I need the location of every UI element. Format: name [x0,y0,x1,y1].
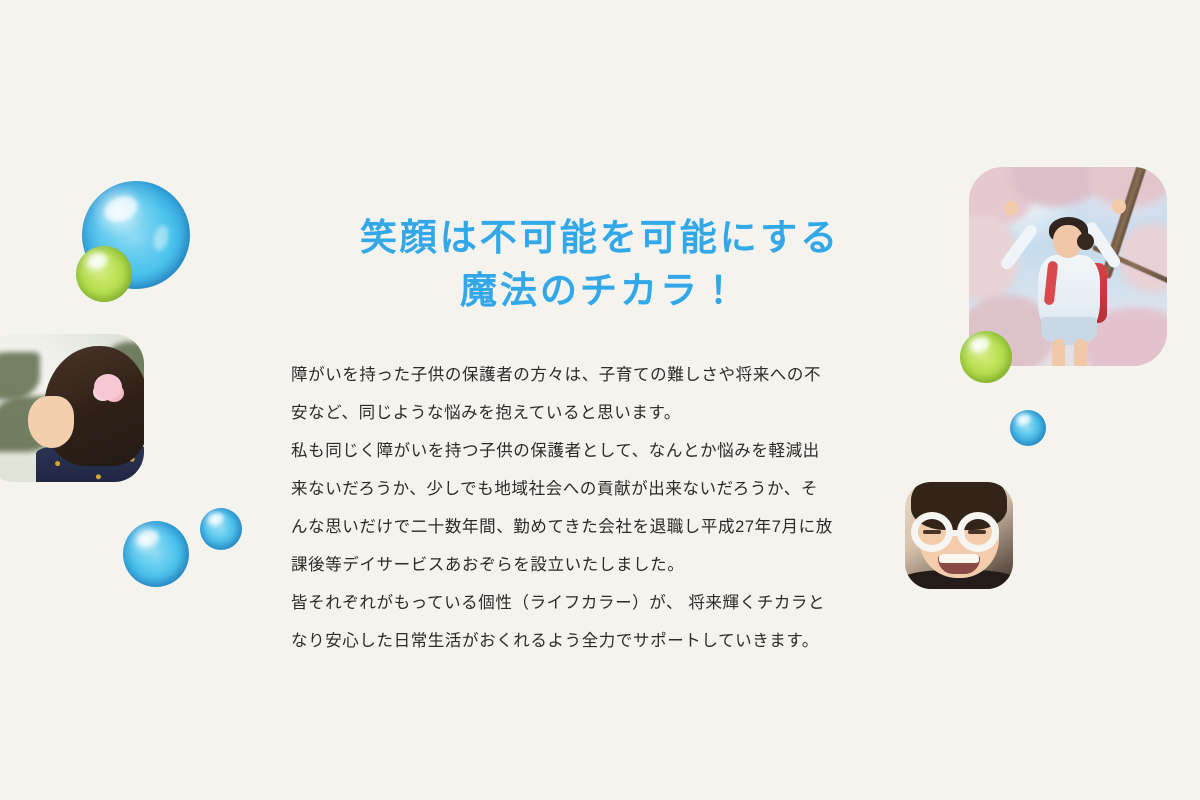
bubble-highlight [86,251,110,271]
child-leg [1052,339,1065,366]
child-hand [1112,199,1126,214]
bubble-right-blue [1010,410,1046,446]
bubble-highlight [208,512,226,527]
photo-profile-girl [0,334,144,482]
bubble-highlight [101,192,142,227]
flower-hair-clip [94,374,122,400]
photo-glasses-kid [905,482,1013,589]
bubble-small-blue [200,508,242,550]
intro-paragraph: 障がいを持った子供の保護者の方々は、子育ての難しさや将来への不 安など、同じよう… [291,356,871,660]
paragraph-line: 安など、同じような悩みを抱えていると思います。 [291,394,871,432]
novelty-glasses-icon [911,512,953,552]
child-face [28,396,74,448]
child-skirt [1041,317,1097,345]
paragraph-line: 来ないだろうか、少しでも地域社会への貢献が出来ないだろうか、そ [291,470,871,508]
paragraph-line: んな思いだけで二十数年間、勤めてきた会社を退職し平成27年7月に放 [291,508,871,546]
bubble-highlight [969,335,991,354]
bubble-large-green [76,246,132,302]
bubble-highlight [1017,413,1032,426]
bubble-right-green [960,331,1012,383]
child-hair-bun [1077,233,1094,250]
hero-section: 笑顔は不可能を可能にする 魔法のチカラ！ 障がいを持った子供の保護者の方々は、子… [0,0,1200,800]
glasses-bridge [951,530,965,536]
bubble-highlight [151,224,170,252]
paragraph-line: 障がいを持った子供の保護者の方々は、子育ての難しさや将来への不 [291,356,871,394]
paragraph-line: 皆それぞれがもっている個性（ライフカラー）が、 将来輝くチカラと [291,584,871,622]
paragraph-line: 課後等デイサービスあおぞらを設立いたしました。 [291,546,871,584]
bubble-mid-blue [123,521,189,587]
child-teeth [939,554,979,563]
bubble-highlight [135,528,161,550]
paragraph-line: なり安心した日常生活がおくれるよう全力でサポートしていきます。 [291,622,871,660]
child-leg [1074,339,1087,366]
paragraph-line: 私も同じく障がいを持つ子供の保護者として、なんとか悩みを軽減出 [291,432,871,470]
child-hand [1004,201,1018,216]
child-mouth [938,554,980,574]
